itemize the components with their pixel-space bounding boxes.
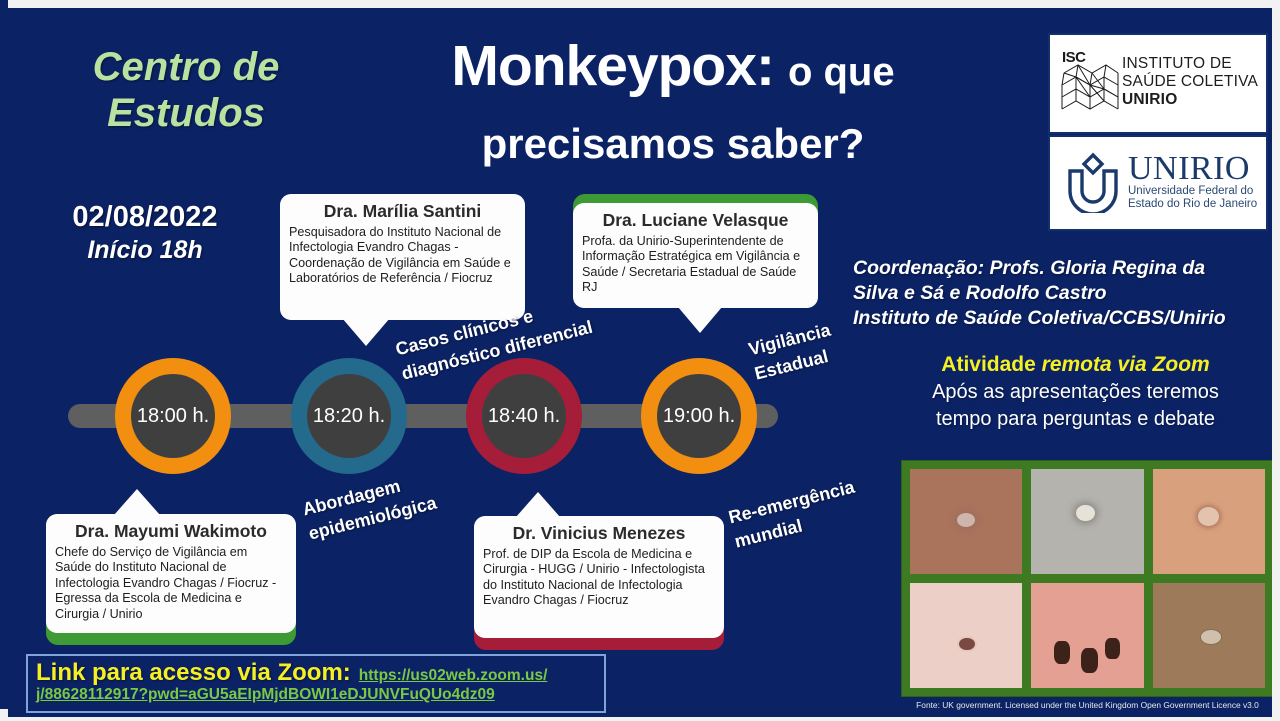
timeline-node-1: 18:00 h. [115, 358, 231, 474]
remote-note-line2: tempo para perguntas e debate [888, 406, 1263, 433]
zoom-url-part1[interactable]: https://us02web.zoom.us/ [351, 667, 548, 684]
topic-label-vigilancia-estadual: Vigilância Estadual [746, 318, 839, 387]
remote-title-emphasis: remota via Zoom [1042, 353, 1210, 376]
zoom-link-row: Link para acesso via Zoom:https://us02we… [36, 659, 547, 687]
unirio-logo-content: UNIRIO Universidade Federal do Estado do… [1062, 151, 1257, 213]
timeline-node-4: 19:00 h. [641, 358, 757, 474]
speaker-name: Dra. Mayumi Wakimoto [55, 521, 287, 542]
title-keyword: Monkeypox: [451, 34, 774, 98]
topic-label-reemergencia-mundial: Re-emergência mundial [726, 475, 863, 555]
speaker-card-pointer [342, 318, 390, 346]
event-date-block: 02/08/2022 Início 18h [30, 200, 260, 266]
remote-activity-block: Atividade remota via Zoom Após as aprese… [888, 351, 1263, 433]
remote-activity-title: Atividade remota via Zoom [888, 351, 1263, 379]
lesion-photo-4 [910, 583, 1022, 688]
isc-text-line1: INSTITUTO DE [1122, 55, 1258, 73]
coordination-line3: Instituto de Saúde Coletiva/CCBS/Unirio [853, 306, 1268, 331]
title-question-start: o que [774, 50, 895, 94]
isc-text-line2: SAÚDE COLETIVA [1122, 73, 1258, 91]
coordination-text: Coordenação: Profs. Gloria Regina da Sil… [853, 256, 1268, 331]
remote-note-line1: Após as apresentações teremos [888, 379, 1263, 406]
speaker-card-vinicius-menezes: Dr. Vinicius Menezes Prof. de DIP da Esc… [474, 516, 724, 650]
coordination-line1: Coordenação: Profs. Gloria Regina da [853, 256, 1268, 281]
speaker-card-marilia-santini: Dra. Marília Santini Pesquisadora do Ins… [280, 194, 525, 320]
topic-label-abordagem-epidemiologica: Abordagem epidemiológica [300, 466, 439, 546]
isc-logo: ISC [1048, 33, 1268, 134]
title-line-1: Monkeypox:o que [313, 34, 1033, 117]
speaker-affiliation: Profa. da Unirio-Superintendente de Info… [582, 234, 809, 296]
remote-title-prefix: Atividade [941, 353, 1041, 376]
timeline-time-3: 18:40 h. [482, 374, 566, 458]
page-title: Monkeypox:o que precisamos saber? [313, 34, 1033, 171]
org-title-line2: Estudos [36, 90, 336, 136]
isc-network-icon: ISC [1060, 51, 1120, 113]
timeline-time-4: 19:00 h. [657, 374, 741, 458]
zoom-link-box: Link para acesso via Zoom:https://us02we… [26, 654, 606, 713]
event-poster: Centro de Estudos Monkeypox:o que precis… [8, 8, 1272, 717]
unirio-logo-text: UNIRIO Universidade Federal do Estado do… [1128, 153, 1257, 211]
lesion-photo-1 [910, 469, 1022, 574]
unirio-symbol-icon [1062, 151, 1124, 213]
lesion-photo-3 [1153, 469, 1265, 574]
photo-grid-inner [910, 469, 1265, 688]
speaker-card-pointer [516, 492, 560, 517]
event-start-time: Início 18h [30, 234, 260, 266]
speaker-card-pointer [114, 489, 160, 515]
org-title: Centro de Estudos [36, 44, 336, 136]
speaker-card-sheet: Dra. Marília Santini Pesquisadora do Ins… [280, 194, 525, 320]
speaker-card-mayumi-wakimoto: Dra. Mayumi Wakimoto Chefe do Serviço de… [46, 514, 296, 645]
unirio-sub1: Universidade Federal do [1128, 185, 1257, 198]
speaker-affiliation: Prof. de DIP da Escola de Medicina e Cir… [483, 547, 715, 609]
lesion-photo-5 [1031, 583, 1143, 688]
poster-left-edge [0, 0, 8, 709]
isc-text-line3: UNIRIO [1122, 91, 1177, 108]
isc-acronym: ISC [1062, 49, 1086, 66]
speaker-card-sheet: Dr. Vinicius Menezes Prof. de DIP da Esc… [474, 516, 724, 638]
lesion-photo-2 [1031, 469, 1143, 574]
unirio-sub2: Estado do Rio de Janeiro [1128, 198, 1257, 211]
lesion-photo-6 [1153, 583, 1265, 688]
speaker-card-sheet: Dra. Mayumi Wakimoto Chefe do Serviço de… [46, 514, 296, 633]
lesion-photo-grid [901, 460, 1272, 697]
event-date: 02/08/2022 [30, 200, 260, 234]
title-line-2: precisamos saber? [313, 117, 1033, 171]
speaker-affiliation: Chefe do Serviço de Vigilância em Saúde … [55, 545, 287, 622]
photo-credit: Fonte: UK government. Licensed under the… [901, 700, 1272, 711]
timeline-node-2: 18:20 h. [291, 358, 407, 474]
speaker-name: Dr. Vinicius Menezes [483, 523, 715, 544]
speaker-name: Dra. Luciane Velasque [582, 210, 809, 231]
unirio-logo: UNIRIO Universidade Federal do Estado do… [1048, 135, 1268, 231]
zoom-link-label: Link para acesso via Zoom: [36, 659, 351, 686]
timeline-time-2: 18:20 h. [307, 374, 391, 458]
isc-logo-content: ISC [1060, 51, 1258, 113]
speaker-card-luciane-velasque: Dra. Luciane Velasque Profa. da Unirio-S… [573, 194, 818, 308]
org-title-line1: Centro de [36, 44, 336, 90]
zoom-url-part2[interactable]: j/88628112917?pwd=aGU5aEIpMjdBOWI1eDJUNV… [36, 686, 495, 704]
speaker-affiliation: Pesquisadora do Instituto Nacional de In… [289, 225, 516, 287]
speaker-card-pointer [678, 307, 722, 333]
speaker-name: Dra. Marília Santini [289, 201, 516, 222]
unirio-name: UNIRIO [1128, 153, 1257, 185]
coordination-line2: Silva e Sá e Rodolfo Castro [853, 281, 1268, 306]
timeline-time-1: 18:00 h. [131, 374, 215, 458]
timeline-node-3: 18:40 h. [466, 358, 582, 474]
isc-logo-text: INSTITUTO DE SAÚDE COLETIVA UNIRIO [1122, 55, 1258, 109]
speaker-card-sheet: Dra. Luciane Velasque Profa. da Unirio-S… [573, 203, 818, 308]
